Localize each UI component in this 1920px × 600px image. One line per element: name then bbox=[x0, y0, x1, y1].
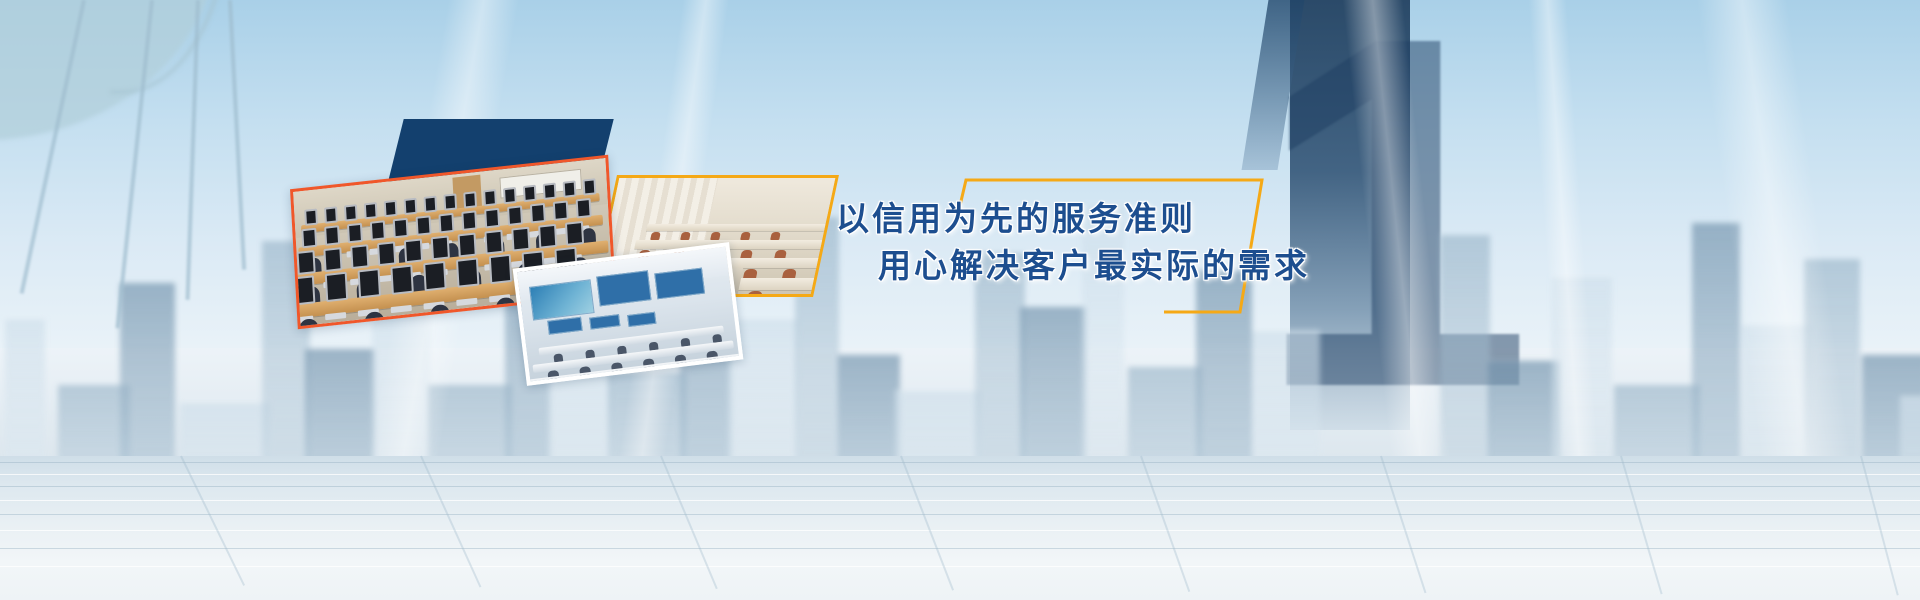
lab-monitor bbox=[438, 213, 454, 234]
headline-line-2: 用心解决客户最实际的需求 bbox=[878, 243, 1356, 290]
lab-monitor bbox=[563, 180, 577, 197]
lab-monitor bbox=[423, 196, 437, 213]
lab-monitor bbox=[543, 183, 557, 200]
control-room-photo[interactable] bbox=[513, 242, 744, 386]
lab-monitor bbox=[538, 224, 557, 249]
lab-monitor bbox=[304, 208, 318, 225]
lab-monitor bbox=[297, 250, 316, 275]
lab-monitor bbox=[423, 261, 446, 291]
lab-monitor bbox=[404, 238, 423, 263]
lab-monitor bbox=[484, 208, 500, 229]
lab-monitor bbox=[456, 257, 479, 287]
lab-monitor bbox=[292, 275, 315, 305]
lecture-desk bbox=[634, 240, 826, 249]
lab-monitor bbox=[583, 178, 597, 195]
lab-chair bbox=[495, 297, 516, 323]
lab-monitor bbox=[324, 206, 338, 223]
control-chair bbox=[603, 377, 617, 386]
control-chair bbox=[634, 373, 648, 386]
lab-monitor bbox=[350, 244, 369, 269]
control-chair bbox=[666, 369, 680, 382]
lab-monitor bbox=[507, 205, 523, 226]
control-display bbox=[596, 270, 651, 306]
lab-monitor bbox=[458, 233, 477, 258]
lab-monitor bbox=[324, 225, 340, 246]
lab-monitor bbox=[404, 198, 418, 215]
lab-monitor bbox=[483, 189, 497, 206]
lecture-chair bbox=[740, 232, 751, 240]
control-chair bbox=[539, 385, 553, 386]
lab-monitor bbox=[377, 241, 396, 266]
lab-monitor bbox=[344, 204, 358, 221]
lab-monitor bbox=[393, 218, 409, 239]
lab-monitor bbox=[553, 200, 569, 221]
lab-monitor bbox=[390, 265, 413, 295]
lab-monitor bbox=[347, 223, 363, 244]
lab-monitor bbox=[301, 228, 317, 249]
lab-monitor bbox=[384, 200, 398, 217]
lab-monitor bbox=[463, 191, 477, 208]
lab-monitor bbox=[325, 272, 348, 302]
lab-monitor bbox=[530, 203, 546, 224]
lab-monitor bbox=[364, 202, 378, 219]
lecture-desk bbox=[646, 224, 825, 231]
lab-monitor bbox=[484, 230, 503, 255]
lecture-chair bbox=[710, 232, 721, 240]
headline-block: 以信用为先的服务准则 用心解决客户最实际的需求 bbox=[836, 196, 1356, 290]
lab-chair bbox=[430, 304, 451, 330]
lab-monitor bbox=[461, 210, 477, 231]
headline-line-1: 以信用为先的服务准则 bbox=[836, 196, 1356, 243]
lab-monitor bbox=[511, 227, 530, 252]
lab-monitor bbox=[323, 247, 342, 272]
lab-monitor bbox=[370, 220, 386, 241]
lab-monitor bbox=[576, 198, 592, 219]
lab-monitor bbox=[416, 215, 432, 236]
lecture-chair bbox=[650, 232, 661, 240]
lab-monitor bbox=[489, 254, 512, 284]
lab-monitor bbox=[523, 185, 537, 202]
control-chair bbox=[698, 365, 712, 378]
lab-monitor bbox=[443, 193, 457, 210]
company-values-hero-banner: 1 bbox=[0, 0, 1920, 600]
lab-monitor bbox=[503, 187, 517, 204]
control-chair bbox=[571, 381, 585, 386]
lab-monitor bbox=[358, 268, 381, 298]
lecture-chair bbox=[770, 232, 781, 240]
lab-monitor bbox=[431, 235, 450, 260]
lecture-chair bbox=[680, 232, 691, 240]
lab-monitor bbox=[565, 221, 584, 246]
